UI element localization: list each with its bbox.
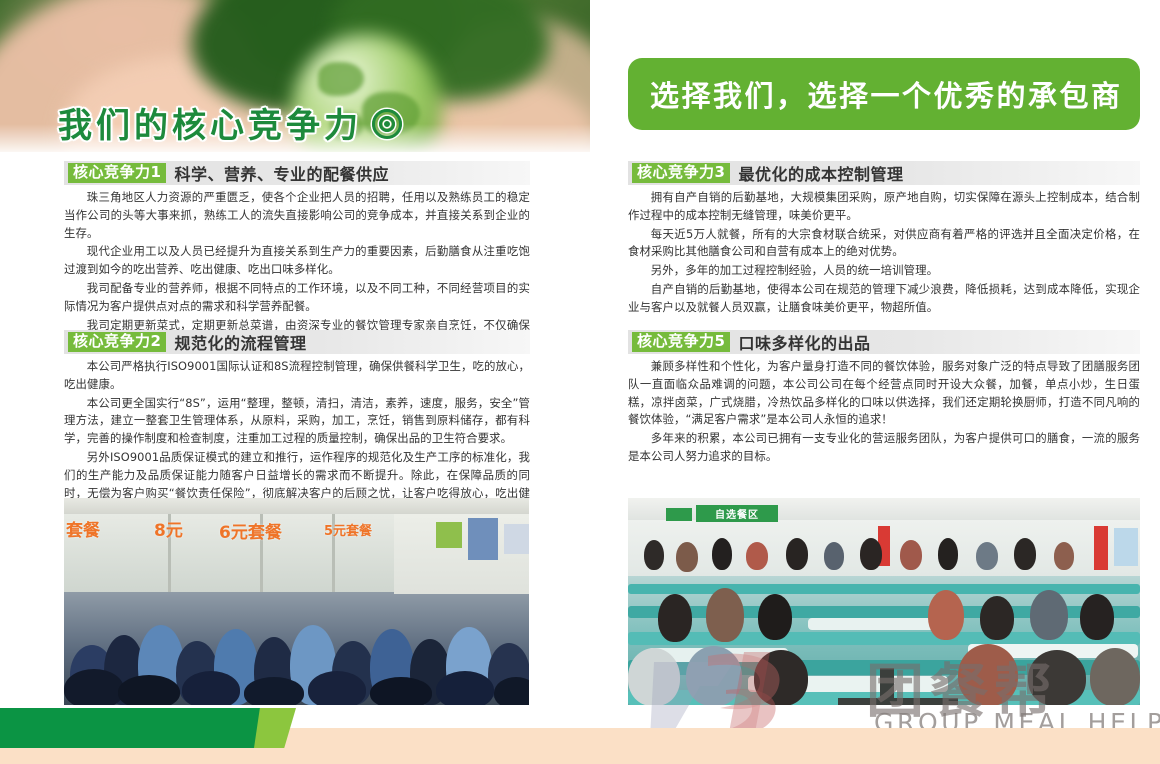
paragraph: 自产自销的后勤基地，使得本公司在规范的管理下减少浪费，降低损耗，达到成本降低，实…	[628, 281, 1140, 317]
paragraph: 现代企业用工以及人员已经提升为直接关系到生产力的重要因素，后勤膳食从注重吃饱过渡…	[64, 243, 530, 279]
section-title-5: 口味多样化的出品	[738, 330, 870, 354]
paragraph: 多年来的积累，本公司已拥有一支专业化的营运服务团队，为客户提供可口的膳食，一流的…	[628, 430, 1140, 466]
section-tag-5: 核心竞争力5	[632, 332, 730, 352]
section-tag-2: 核心竞争力2	[68, 332, 166, 352]
section-header-5: 核心竞争力5 口味多样化的出品	[628, 330, 1140, 354]
footer-green-bar	[0, 708, 238, 748]
wall-poster	[504, 524, 529, 554]
self-select-sign: 自选餐区	[696, 505, 778, 522]
crowd	[64, 585, 529, 705]
paragraph: 我司配备专业的营养师，根据不同特点的工作环境，以及不同工种，不同经营项目的实际情…	[64, 280, 530, 316]
brochure-page: 我们的核心竞争力 选择我们，选择一个优秀的承包商 核心竞争力1 科学、营养、专业…	[0, 0, 1160, 764]
section-title-2: 规范化的流程管理	[174, 330, 306, 354]
photo-canteen-dining: 自选餐区	[628, 498, 1140, 705]
section-tag-1: 核心竞争力1	[68, 163, 166, 183]
section-body-3: 拥有自产自销的后勤基地，大规模集团采购，原产地自购，切实保障在源头上控制成本，结…	[628, 189, 1140, 318]
paragraph: 另外，多年的加工过程控制经验，人员的统一培训管理。	[628, 262, 1140, 280]
section-tag-3: 核心竞争力3	[632, 163, 730, 183]
menu-sign-1: 套餐	[66, 516, 100, 541]
paragraph: 珠三角地区人力资源的严重匮乏，使各个企业把人员的招聘，任用以及熟练员工的稳定当作…	[64, 189, 530, 242]
target-icon	[372, 109, 402, 139]
menu-sign-3: 6元套餐	[219, 518, 282, 543]
paragraph: 本公司更全国实行“8S”，运用“整理，整顿，清扫，清洁，素养，速度，服务，安全”…	[64, 395, 530, 448]
menu-sign-2: 8元	[154, 516, 183, 541]
section-header-2: 核心竞争力2 规范化的流程管理	[64, 330, 530, 354]
wall-poster	[468, 518, 498, 560]
section-title-3: 最优化的成本控制管理	[738, 161, 903, 185]
section-title-1: 科学、营养、专业的配餐供应	[174, 161, 389, 185]
paragraph: 兼顾多样性和个性化，为客户量身打造不同的餐饮体验，服务对象广泛的特点导致了团膳服…	[628, 358, 1140, 429]
section-body-5: 兼顾多样性和个性化，为客户量身打造不同的餐饮体验，服务对象广泛的特点导致了团膳服…	[628, 358, 1140, 467]
paragraph: 每天近5万人就餐，所有的大宗食材联合统采，对供应商有着严格的评选并且全面决定价格…	[628, 226, 1140, 262]
ceiling	[64, 498, 529, 514]
photo-canteen-queue: 套餐 8元 6元套餐 5元套餐	[64, 498, 529, 705]
paragraph: 拥有自产自销的后勤基地，大规模集团采购，原产地自购，切实保障在源头上控制成本，结…	[628, 189, 1140, 225]
headline-banner-text: 选择我们，选择一个优秀的承包商	[628, 73, 1123, 115]
small-sign	[666, 508, 692, 521]
section-body-2: 本公司严格执行ISO9001国际认证和8S流程控制管理，确保供餐科学卫生，吃的放…	[64, 358, 530, 521]
section-header-1: 核心竞争力1 科学、营养、专业的配餐供应	[64, 161, 530, 185]
wall-poster	[436, 522, 462, 548]
page-title: 我们的核心竞争力	[58, 98, 402, 147]
red-banner	[1094, 526, 1108, 570]
paragraph: 本公司严格执行ISO9001国际认证和8S流程控制管理，确保供餐科学卫生，吃的放…	[64, 358, 530, 394]
wall-poster	[1114, 528, 1138, 566]
section-header-3: 核心竞争力3 最优化的成本控制管理	[628, 161, 1140, 185]
menu-sign-4: 5元套餐	[324, 520, 372, 539]
headline-banner: 选择我们，选择一个优秀的承包商	[628, 58, 1140, 130]
page-title-text: 我们的核心竞争力	[58, 106, 362, 146]
section-body-1: 珠三角地区人力资源的严重匮乏，使各个企业把人员的招聘，任用以及熟练员工的稳定当作…	[64, 189, 530, 353]
